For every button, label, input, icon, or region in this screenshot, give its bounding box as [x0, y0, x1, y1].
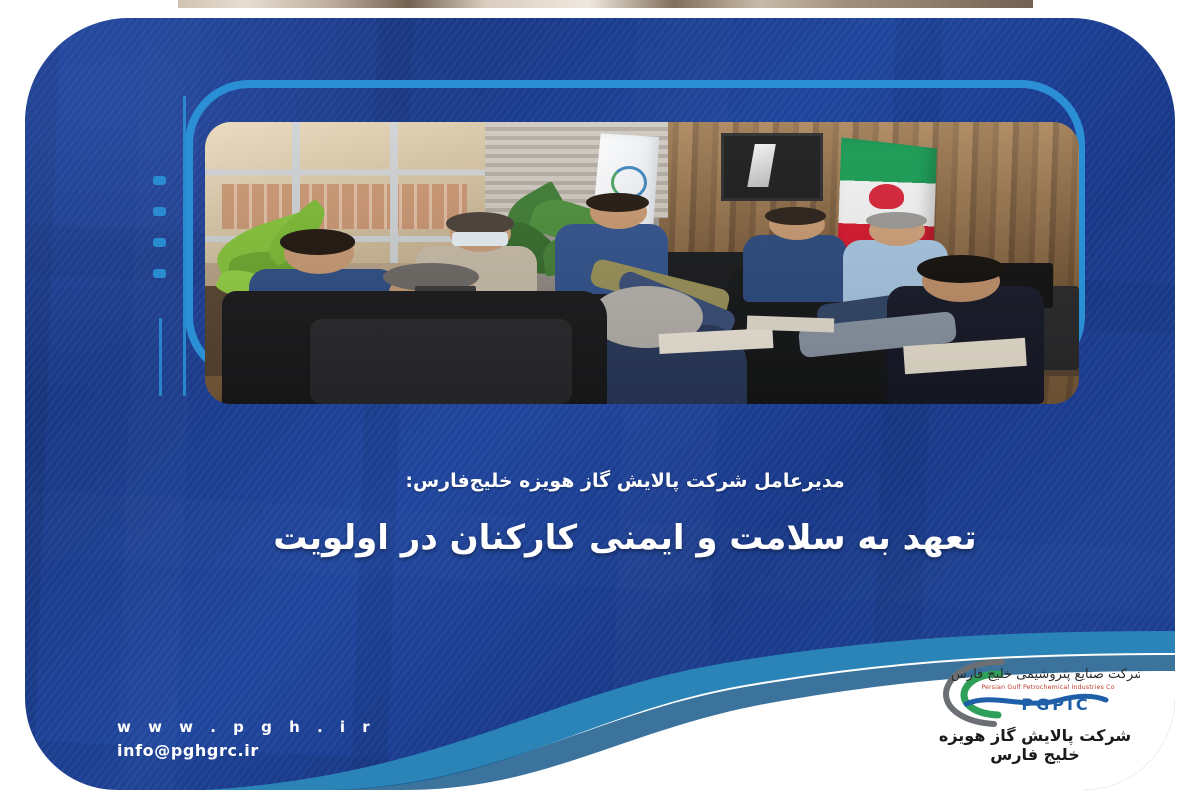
logo-subsidiary-name: شرکت پالایش گاز هویزه خلیج فارس	[930, 726, 1140, 764]
pgpic-logo-mark: شرکت صنایع پتروشیمی خلیج فارس Persian Gu…	[930, 652, 1140, 730]
poster-background-panel: مدیرعامل شرکت پالایش گاز هویزه خلیج‌فارس…	[25, 18, 1175, 790]
decorative-vertical-line	[183, 96, 186, 396]
email-address[interactable]: info@pghgrc.ir	[117, 741, 376, 760]
logo-acronym: PGPIC	[1021, 695, 1090, 714]
meeting-photo	[205, 122, 1079, 404]
decorative-dot	[153, 269, 166, 278]
page-title: تعهد به سلامت و ایمنی کارکنان در اولویت	[25, 518, 1175, 558]
contact-info: w w w . p g h . i r info@pghgrc.ir	[117, 718, 376, 760]
photo-shading-overlay	[205, 122, 1079, 404]
decorative-vertical-line-short	[159, 318, 162, 396]
company-logo: شرکت صنایع پتروشیمی خلیج فارس Persian Gu…	[930, 652, 1140, 762]
logo-persian-name: شرکت صنایع پتروشیمی خلیج فارس	[951, 667, 1140, 682]
decorative-dot	[153, 238, 166, 247]
decorative-dot	[153, 207, 166, 216]
website-url[interactable]: w w w . p g h . i r	[117, 718, 376, 736]
poster-canvas: مدیرعامل شرکت پالایش گاز هویزه خلیج‌فارس…	[0, 0, 1200, 800]
logo-english-name: Persian Gulf Petrochemical Industries Co	[981, 684, 1114, 691]
decorative-dot	[153, 176, 166, 185]
kicker-text: مدیرعامل شرکت پالایش گاز هویزه خلیج‌فارس…	[25, 470, 1175, 492]
top-photo-sliver	[178, 0, 1033, 8]
decorative-dots	[153, 176, 169, 316]
